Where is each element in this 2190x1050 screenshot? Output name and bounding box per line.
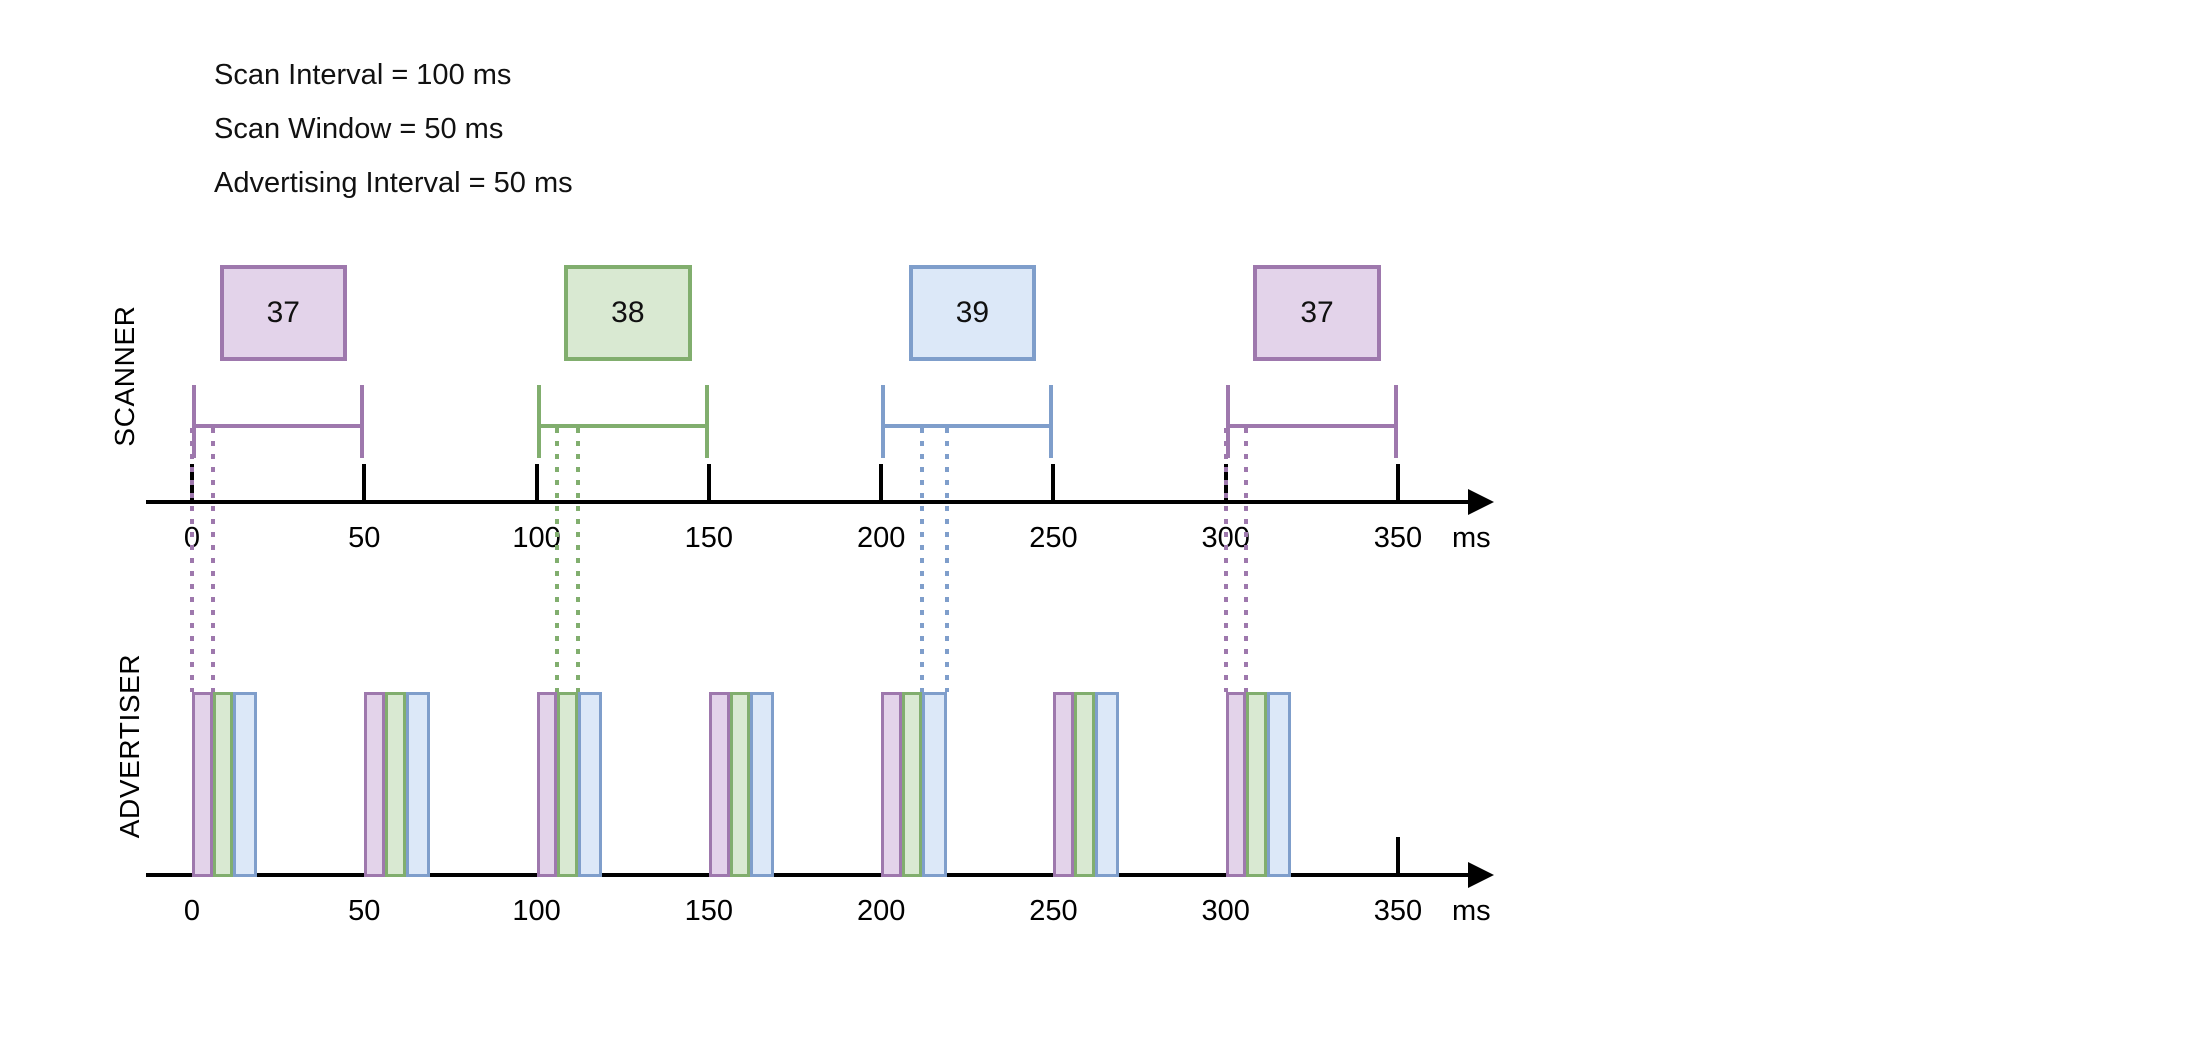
advertiser-axis-tick-label: 200 [831,895,931,928]
scanner-axis-tick-label: 50 [314,522,414,555]
advertiser-bar-ch38 [385,692,406,877]
scan-window-bracket-end [1394,385,1398,458]
scan-window-bracket-span [192,424,364,428]
timing-diagram: Scan Interval = 100 ms Scan Window = 50 … [0,0,2190,1050]
scanner-channel-label: 38 [611,296,644,330]
advertiser-bar-ch37 [881,692,902,877]
advertiser-axis-tick-label: 350 [1348,895,1448,928]
scanner-axis-line [146,500,1470,504]
advertiser-axis-tick-label: 100 [487,895,587,928]
parameter-list: Scan Interval = 100 ms Scan Window = 50 … [214,48,573,210]
advertiser-axis-tick-label: 150 [659,895,759,928]
advertiser-bar-ch39 [578,692,602,877]
advertiser-axis-tick-label: 250 [1003,895,1103,928]
scanner-channel-box-38: 38 [564,265,691,361]
advertiser-bar-ch39 [1267,692,1291,877]
scan-window-bracket-span [537,424,709,428]
advertiser-bar-ch37 [364,692,385,877]
advertiser-bar-ch38 [1074,692,1095,877]
advertiser-row-label: ADVERTISER [114,576,146,916]
scan-to-advert-connector [1224,428,1228,692]
scan-to-advert-connector [576,428,580,692]
scanner-axis-tick [707,464,711,504]
scanner-axis-tick [879,464,883,504]
scan-to-advert-connector [211,428,215,692]
scan-window-bracket-start [881,385,885,458]
advertiser-bar-ch38 [557,692,578,877]
scan-window-bracket-span [1226,424,1398,428]
scanner-axis-tick [1396,464,1400,504]
scan-window-bracket-end [1049,385,1053,458]
scanner-axis-tick [362,464,366,504]
scan-to-advert-connector [190,428,194,692]
scan-window-bracket-start [537,385,541,458]
advertiser-bar-ch37 [537,692,558,877]
param-scan-interval: Scan Interval = 100 ms [214,48,573,102]
advertiser-axis-tick-label: 300 [1176,895,1276,928]
scan-window-bracket-end [705,385,709,458]
advertiser-bar-ch38 [730,692,751,877]
advertiser-axis-unit-label: ms [1452,895,1491,928]
advertiser-bar-ch37 [192,692,213,877]
scanner-channel-label: 37 [1300,296,1333,330]
advertiser-axis-arrow-icon [1468,862,1494,888]
scan-to-advert-connector [945,428,949,692]
advertiser-bar-ch37 [1226,692,1247,877]
advertiser-bar-ch39 [406,692,430,877]
advertiser-bar-ch39 [1095,692,1119,877]
scanner-axis-tick-label: 200 [831,522,931,555]
param-adv-interval: Advertising Interval = 50 ms [214,156,573,210]
advertiser-axis-tick-label: 50 [314,895,414,928]
scanner-channel-label: 37 [267,296,300,330]
scan-to-advert-connector [555,428,559,692]
scanner-channel-box-37: 37 [220,265,347,361]
scan-window-bracket-end [360,385,364,458]
advertiser-axis-tick-label: 0 [142,895,242,928]
scanner-axis-tick-label: 150 [659,522,759,555]
advertiser-bar-ch39 [233,692,257,877]
scanner-axis-unit-label: ms [1452,522,1491,555]
scan-to-advert-connector [920,428,924,692]
scanner-axis-tick-label: 100 [487,522,587,555]
scanner-axis-tick-label: 350 [1348,522,1448,555]
advertiser-bar-ch38 [213,692,234,877]
advertiser-bar-ch38 [902,692,923,877]
advertiser-bar-ch37 [709,692,730,877]
scanner-axis-arrow-icon [1468,489,1494,515]
scanner-channel-box-39: 39 [909,265,1036,361]
advertiser-bar-ch37 [1053,692,1074,877]
param-scan-window: Scan Window = 50 ms [214,102,573,156]
advertiser-axis-tick [1396,837,1400,877]
scanner-row-label: SCANNER [109,246,141,506]
scanner-channel-box-37: 37 [1253,265,1380,361]
scanner-axis-tick-label: 250 [1003,522,1103,555]
scan-to-advert-connector [1244,428,1248,692]
advertiser-bar-ch38 [1246,692,1267,877]
advertiser-bar-ch39 [922,692,946,877]
scanner-channel-label: 39 [956,296,989,330]
scan-window-bracket-span [881,424,1053,428]
scanner-axis-tick [1051,464,1055,504]
advertiser-bar-ch39 [750,692,774,877]
scanner-axis-tick [535,464,539,504]
